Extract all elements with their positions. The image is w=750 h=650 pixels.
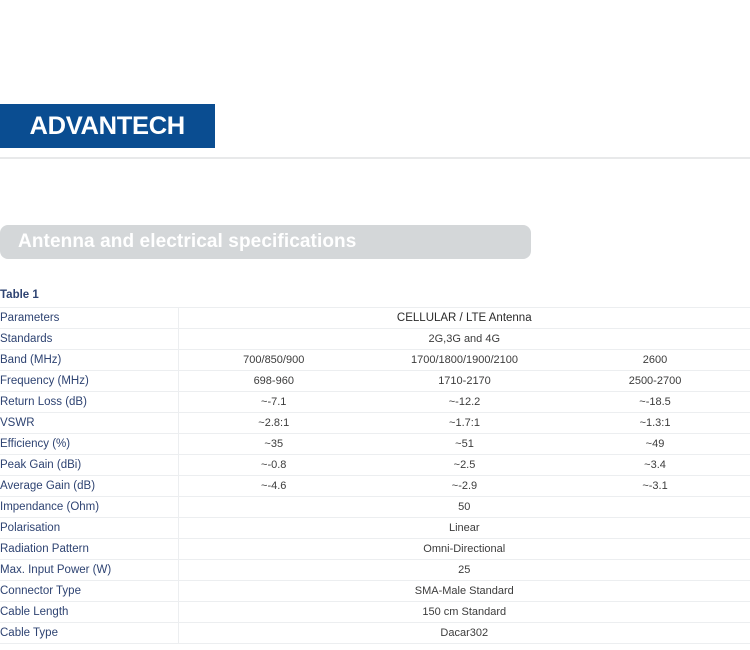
row-parameter-label: VSWR — [0, 413, 178, 434]
row-value: ~-3.1 — [560, 476, 750, 497]
table-row: Peak Gain (dBi)~-0.8~2.5~3.4 — [0, 455, 750, 476]
row-value: ~-2.9 — [369, 476, 560, 497]
row-value: ~-4.6 — [178, 476, 369, 497]
document-body: ADVANTECH Antenna and electrical specifi… — [0, 0, 750, 158]
table-row: VSWR~2.8:1~1.7:1~1.3:1 — [0, 413, 750, 434]
header-antenna-label: CELLULAR / LTE Antenna — [178, 308, 750, 329]
table-row: Average Gain (dB)~-4.6~-2.9~-3.1 — [0, 476, 750, 497]
row-value: 700/850/900 — [178, 350, 369, 371]
row-value: 2600 — [560, 350, 750, 371]
row-value: 1700/1800/1900/2100 — [369, 350, 560, 371]
row-value: 150 cm Standard — [178, 602, 750, 623]
table-body: Parameters CELLULAR / LTE Antenna Standa… — [0, 308, 750, 644]
table-row: Cable TypeDacar302 — [0, 623, 750, 644]
row-value: 25 — [178, 560, 750, 581]
section-title-text: Antenna and electrical specifications — [0, 231, 356, 253]
row-parameter-label: Peak Gain (dBi) — [0, 455, 178, 476]
section-title-bar: Antenna and electrical specifications — [0, 225, 531, 259]
row-parameter-label: Radiation Pattern — [0, 539, 178, 560]
row-parameter-label: Average Gain (dB) — [0, 476, 178, 497]
row-parameter-label: Efficiency (%) — [0, 434, 178, 455]
row-value: ~51 — [369, 434, 560, 455]
row-value: 1710-2170 — [369, 371, 560, 392]
row-value: ~1.7:1 — [369, 413, 560, 434]
table-row: Return Loss (dB)~-7.1~-12.2~-18.5 — [0, 392, 750, 413]
row-parameter-label: Polarisation — [0, 518, 178, 539]
table-row: PolarisationLinear — [0, 518, 750, 539]
row-value: 2500-2700 — [560, 371, 750, 392]
row-parameter-label: Cable Type — [0, 623, 178, 644]
table-row: Connector TypeSMA-Male Standard — [0, 581, 750, 602]
row-value: ~-18.5 — [560, 392, 750, 413]
advantech-logo[interactable]: ADVANTECH — [0, 104, 215, 148]
advantech-logo-wordmark: ADVANTECH — [30, 114, 185, 139]
table-row: Radiation PatternOmni-Directional — [0, 539, 750, 560]
row-value: ~-7.1 — [178, 392, 369, 413]
row-value: ~3.4 — [560, 455, 750, 476]
row-value: ~2.8:1 — [178, 413, 369, 434]
row-parameter-label: Cable Length — [0, 602, 178, 623]
header-parameters-label: Parameters — [0, 308, 178, 329]
row-value: Omni-Directional — [178, 539, 750, 560]
table-row: Frequency (MHz)698-9601710-21702500-2700 — [0, 371, 750, 392]
table-row: Standards2G,3G and 4G — [0, 329, 750, 350]
table-row: Band (MHz)700/850/9001700/1800/1900/2100… — [0, 350, 750, 371]
row-value: 698-960 — [178, 371, 369, 392]
row-parameter-label: Return Loss (dB) — [0, 392, 178, 413]
row-value: 2G,3G and 4G — [178, 329, 750, 350]
row-parameter-label: Standards — [0, 329, 178, 350]
table-row: Max. Input Power (W)25 — [0, 560, 750, 581]
row-parameter-label: Frequency (MHz) — [0, 371, 178, 392]
row-value: SMA-Male Standard — [178, 581, 750, 602]
row-value: ~2.5 — [369, 455, 560, 476]
row-value: Linear — [178, 518, 750, 539]
row-parameter-label: Max. Input Power (W) — [0, 560, 178, 581]
antenna-spec-table: Parameters CELLULAR / LTE Antenna Standa… — [0, 307, 750, 644]
row-value: ~49 — [560, 434, 750, 455]
row-parameter-label: Connector Type — [0, 581, 178, 602]
table-row: Efficiency (%)~35~51~49 — [0, 434, 750, 455]
table-caption: Table 1 — [0, 289, 39, 301]
row-value: ~1.3:1 — [560, 413, 750, 434]
table-row: Impendance (Ohm)50 — [0, 497, 750, 518]
brand-header: ADVANTECH — [0, 0, 750, 158]
row-value: ~-12.2 — [369, 392, 560, 413]
table-row: Cable Length150 cm Standard — [0, 602, 750, 623]
row-value: Dacar302 — [178, 623, 750, 644]
header-divider — [0, 157, 750, 159]
row-parameter-label: Band (MHz) — [0, 350, 178, 371]
table-header-row: Parameters CELLULAR / LTE Antenna — [0, 308, 750, 329]
row-parameter-label: Impendance (Ohm) — [0, 497, 178, 518]
row-value: 50 — [178, 497, 750, 518]
page-canvas: ADVANTECH Antenna and electrical specifi… — [0, 0, 750, 650]
row-value: ~-0.8 — [178, 455, 369, 476]
row-value: ~35 — [178, 434, 369, 455]
